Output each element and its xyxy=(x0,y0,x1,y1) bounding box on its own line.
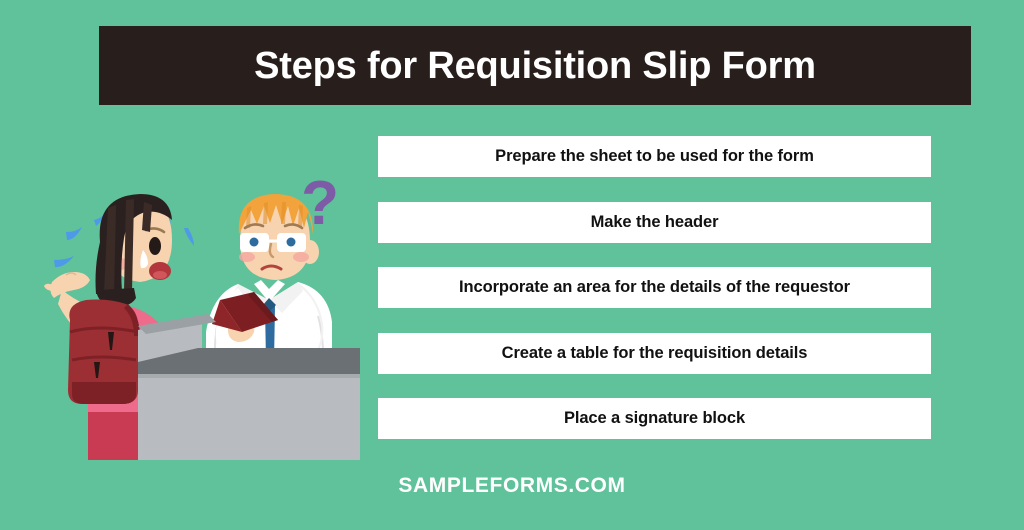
step-item[interactable]: Create a table for the requisition detai… xyxy=(378,333,931,374)
step-label: Make the header xyxy=(591,213,719,232)
infographic-canvas: Steps for Requisition Slip Form ? xyxy=(0,0,1024,530)
step-label: Place a signature block xyxy=(564,409,745,428)
title-banner: Steps for Requisition Slip Form xyxy=(99,26,971,105)
steps-list: Prepare the sheet to be used for the for… xyxy=(378,136,931,439)
step-item[interactable]: Incorporate an area for the details of t… xyxy=(378,267,931,308)
page-title: Steps for Requisition Slip Form xyxy=(254,47,816,85)
backpack xyxy=(68,300,140,405)
illustration-woman-and-clerk: ? xyxy=(42,172,360,460)
step-item[interactable]: Make the header xyxy=(378,202,931,243)
step-label: Incorporate an area for the details of t… xyxy=(459,278,850,297)
step-label: Create a table for the requisition detai… xyxy=(502,344,808,363)
footer-brand: SAMPLEFORMS.COM xyxy=(0,474,1024,498)
step-item[interactable]: Place a signature block xyxy=(378,398,931,439)
step-label: Prepare the sheet to be used for the for… xyxy=(495,147,814,166)
step-item[interactable]: Prepare the sheet to be used for the for… xyxy=(378,136,931,177)
